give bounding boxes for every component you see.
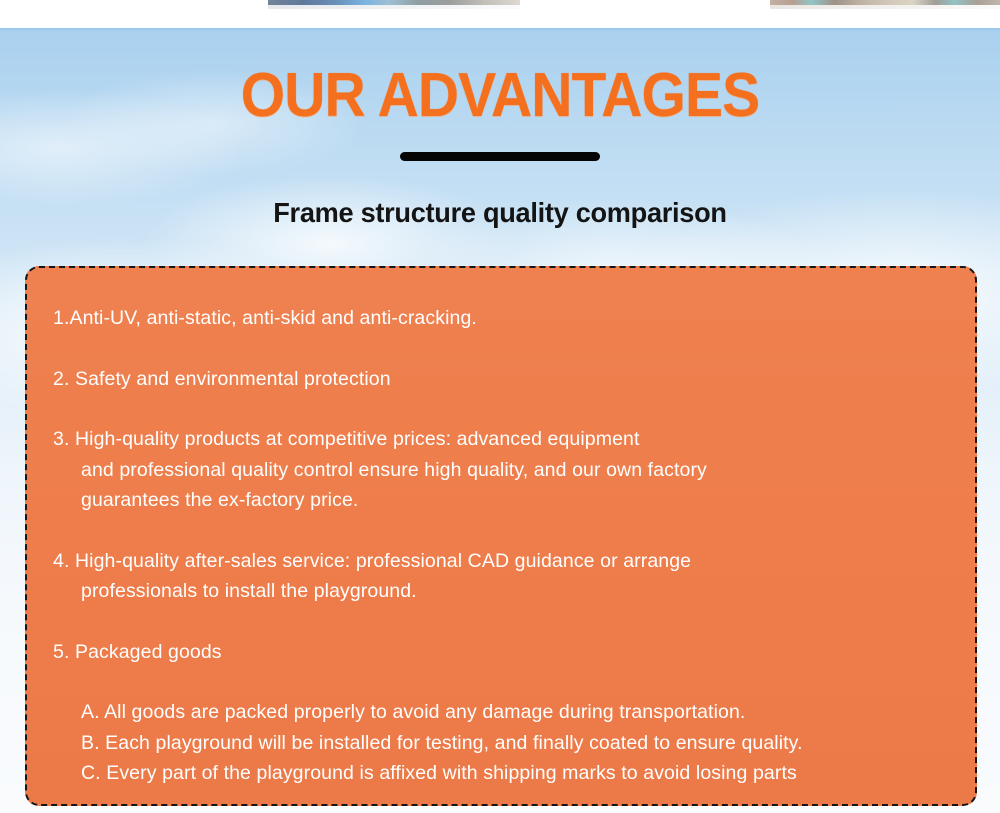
page-title: OUR ADVANTAGES bbox=[40, 58, 960, 134]
advantage-item-2: 2. Safety and environmental protection bbox=[53, 364, 949, 395]
product-image-sliver-left bbox=[268, 0, 520, 5]
advantage-item-5-sublist: A. All goods are packed properly to avoi… bbox=[53, 697, 949, 789]
advantage-item-5: 5. Packaged goods bbox=[53, 637, 949, 668]
advantage-item-3: 3. High-quality products at competitive … bbox=[53, 424, 949, 516]
page-subtitle: Frame structure quality comparison bbox=[15, 194, 985, 232]
advantages-page: OUR ADVANTAGES Frame structure quality c… bbox=[0, 0, 1000, 813]
advantages-panel: 1.Anti-UV, anti-static, anti-skid and an… bbox=[25, 266, 977, 806]
advantage-item-1: 1.Anti-UV, anti-static, anti-skid and an… bbox=[53, 303, 949, 334]
advantage-item-4: 4. High-quality after-sales service: pro… bbox=[53, 546, 949, 607]
sky-top-edge bbox=[0, 28, 1000, 31]
advantage-subitem-a: A. All goods are packed properly to avoi… bbox=[81, 697, 949, 728]
advantage-subitem-b: B. Each playground will be installed for… bbox=[81, 728, 949, 759]
advantage-subitem-c: C. Every part of the playground is affix… bbox=[81, 758, 949, 789]
title-divider bbox=[400, 152, 600, 161]
top-image-strip bbox=[0, 0, 1000, 28]
product-image-sliver-right bbox=[770, 0, 1000, 5]
